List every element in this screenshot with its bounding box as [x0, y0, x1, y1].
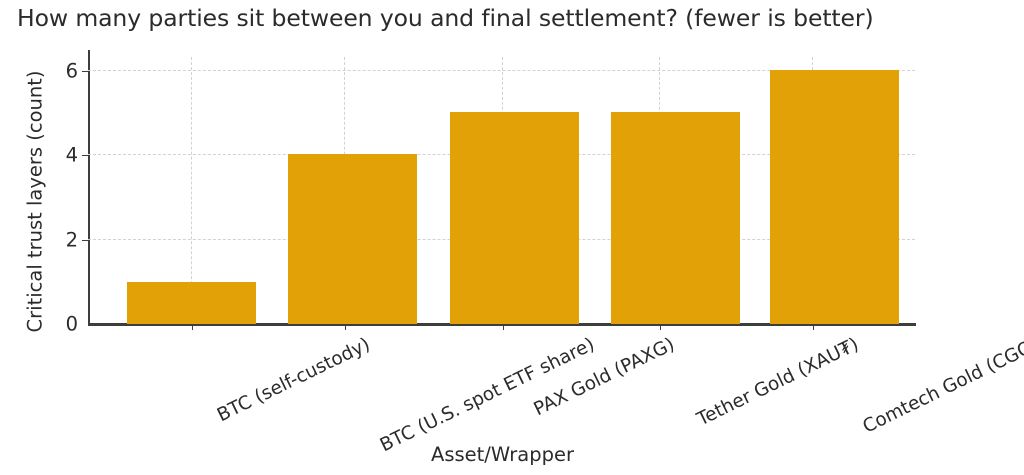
y-tick-mark-2	[82, 240, 88, 241]
x-tick-mark-4	[813, 324, 814, 330]
x-tick-label-comtech-gold: Comtech Gold (CGO)	[860, 334, 1024, 438]
chart-title: How many parties sit between you and fin…	[17, 4, 874, 32]
x-tick-mark-1	[345, 324, 346, 330]
y-tick-mark-6	[82, 71, 88, 72]
bar-btc-self-custody[interactable]	[127, 282, 256, 324]
y-tick-label-6: 6	[66, 59, 78, 82]
plot-area: 6 4 2 0	[88, 57, 915, 324]
y-tick-mark-4	[82, 155, 88, 156]
x-tick-mark-0	[192, 324, 193, 330]
bar-pax-gold[interactable]	[450, 112, 579, 324]
bar-btc-spot-etf-share[interactable]	[288, 154, 417, 324]
x-axis-title: Asset/Wrapper	[0, 443, 1005, 466]
x-tick-label-tether-gold: Tether Gold (XAU₮)	[694, 334, 862, 430]
y-tick-label-2: 2	[66, 229, 78, 252]
bar-chart-figure: How many parties sit between you and fin…	[0, 0, 1024, 475]
bar-tether-gold[interactable]	[611, 112, 740, 324]
bar-comtech-gold[interactable]	[770, 70, 899, 324]
y-tick-label-4: 4	[66, 144, 78, 167]
x-tick-mark-2	[503, 324, 504, 330]
x-tick-label-btc-self-custody: BTC (self-custody)	[214, 334, 374, 426]
y-axis-title: Critical trust layers (count)	[24, 62, 47, 342]
y-tick-label-0: 0	[66, 313, 78, 336]
x-tick-label-pax-gold: PAX Gold (PAXG)	[531, 334, 678, 420]
x-tick-mark-3	[660, 324, 661, 330]
